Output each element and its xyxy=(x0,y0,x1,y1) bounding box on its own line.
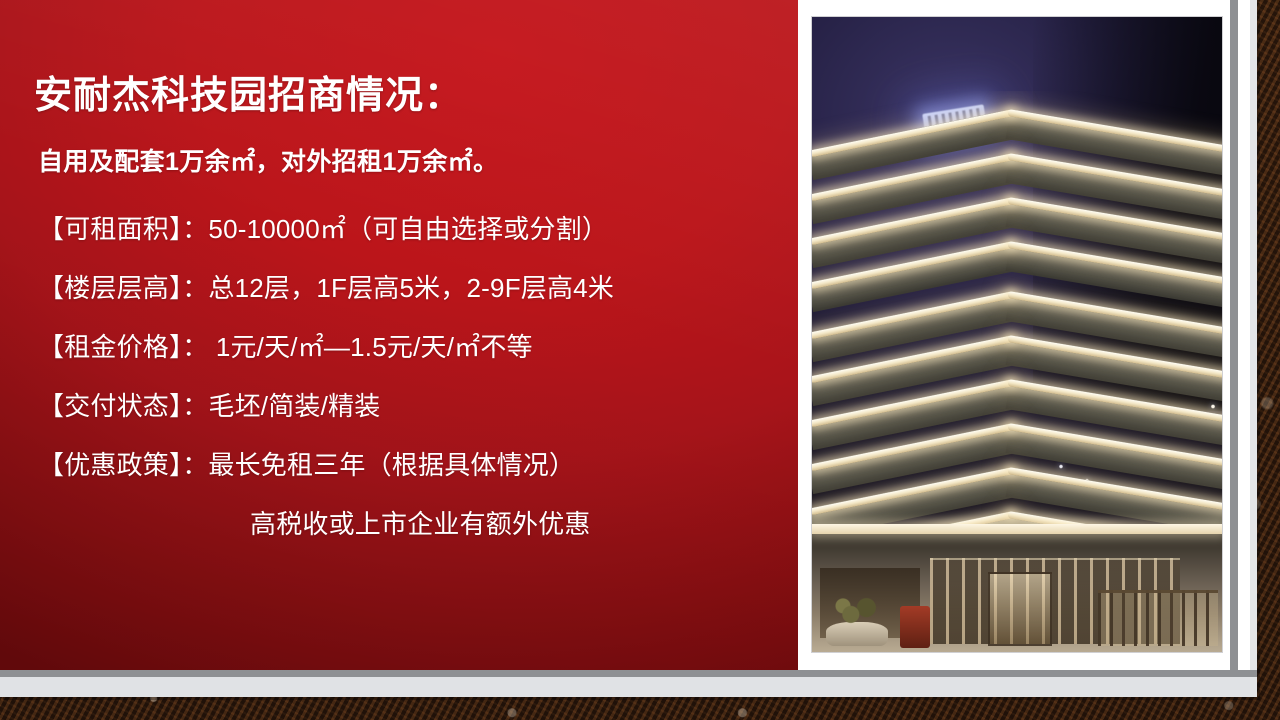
list-item-label: 【楼层层高】 xyxy=(38,273,182,303)
list-item-label: 【优惠政策】 xyxy=(38,450,182,480)
tower-facade xyxy=(812,91,1222,561)
red-equipment xyxy=(900,606,930,648)
subheading-part-3: 。 xyxy=(473,148,498,176)
photo-frame xyxy=(798,0,1230,670)
list-item-text: ：50-10000㎡（可自由选择或分割） xyxy=(182,214,608,244)
card-bottom-rule xyxy=(0,670,1257,677)
card-bottom-band xyxy=(0,676,1250,697)
slide-card: 安耐杰科技园招商情况： 自用及配套1万余㎡，对外招租1万余㎡。 【可租面积】：5… xyxy=(0,0,1257,697)
list-item: 高税收或上市企业有额外优惠 xyxy=(38,495,792,554)
subheading-unit-1: ㎡ xyxy=(230,148,255,176)
shrub xyxy=(830,594,882,628)
list-item: 【楼层层高】：总12层，1F层高5米，2-9F层高4米 xyxy=(38,259,792,318)
bullet-list: 【可租面积】：50-10000㎡（可自由选择或分割） 【楼层层高】：总12层，1… xyxy=(32,200,792,554)
podium-canopy-light xyxy=(812,524,1222,534)
subheading-part-2: ，对外招租1万余 xyxy=(256,148,448,176)
list-item-label: 【租金价格】 xyxy=(38,332,182,362)
list-item-text: ：毛坯/简装/精装 xyxy=(182,391,380,421)
list-item-text: 高税收或上市企业有额外优惠 xyxy=(250,509,591,539)
subheading-unit-2: ㎡ xyxy=(448,148,473,176)
list-item: 【交付状态】：毛坯/简装/精装 xyxy=(38,377,792,436)
list-item-label: 【可租面积】 xyxy=(38,214,182,244)
text-block: 安耐杰科技园招商情况： 自用及配套1万余㎡，对外招租1万余㎡。 【可租面积】：5… xyxy=(0,0,798,670)
page-title: 安耐杰科技园招商情况： xyxy=(32,76,792,118)
list-item-label: 【交付状态】 xyxy=(38,391,182,421)
lobby-entrance-door xyxy=(988,572,1052,646)
list-item: 【租金价格】： 1元/天/㎡—1.5元/天/㎡不等 xyxy=(38,318,792,377)
building-podium xyxy=(812,524,1222,652)
slide-stage: 安耐杰科技园招商情况： 自用及配套1万余㎡，对外招租1万余㎡。 【可租面积】：5… xyxy=(0,0,1280,720)
subheading-part-1: 自用及配套1万余 xyxy=(38,148,230,176)
subheading: 自用及配套1万余㎡，对外招租1万余㎡。 xyxy=(32,142,792,178)
list-item-text: ：最长免租三年（根据具体情况） xyxy=(182,450,575,480)
red-content-panel: 安耐杰科技园招商情况： 自用及配套1万余㎡，对外招租1万余㎡。 【可租面积】：5… xyxy=(0,0,798,670)
card-right-rule xyxy=(1230,0,1238,677)
list-item: 【可租面积】：50-10000㎡（可自由选择或分割） xyxy=(38,200,792,259)
list-item: 【优惠政策】：最长免租三年（根据具体情况） xyxy=(38,436,792,495)
building-night-photo xyxy=(812,17,1222,652)
railing xyxy=(1098,590,1218,646)
list-item-text: ：总12层，1F层高5米，2-9F层高4米 xyxy=(182,273,614,303)
list-item-text: ： 1元/天/㎡—1.5元/天/㎡不等 xyxy=(182,332,533,362)
